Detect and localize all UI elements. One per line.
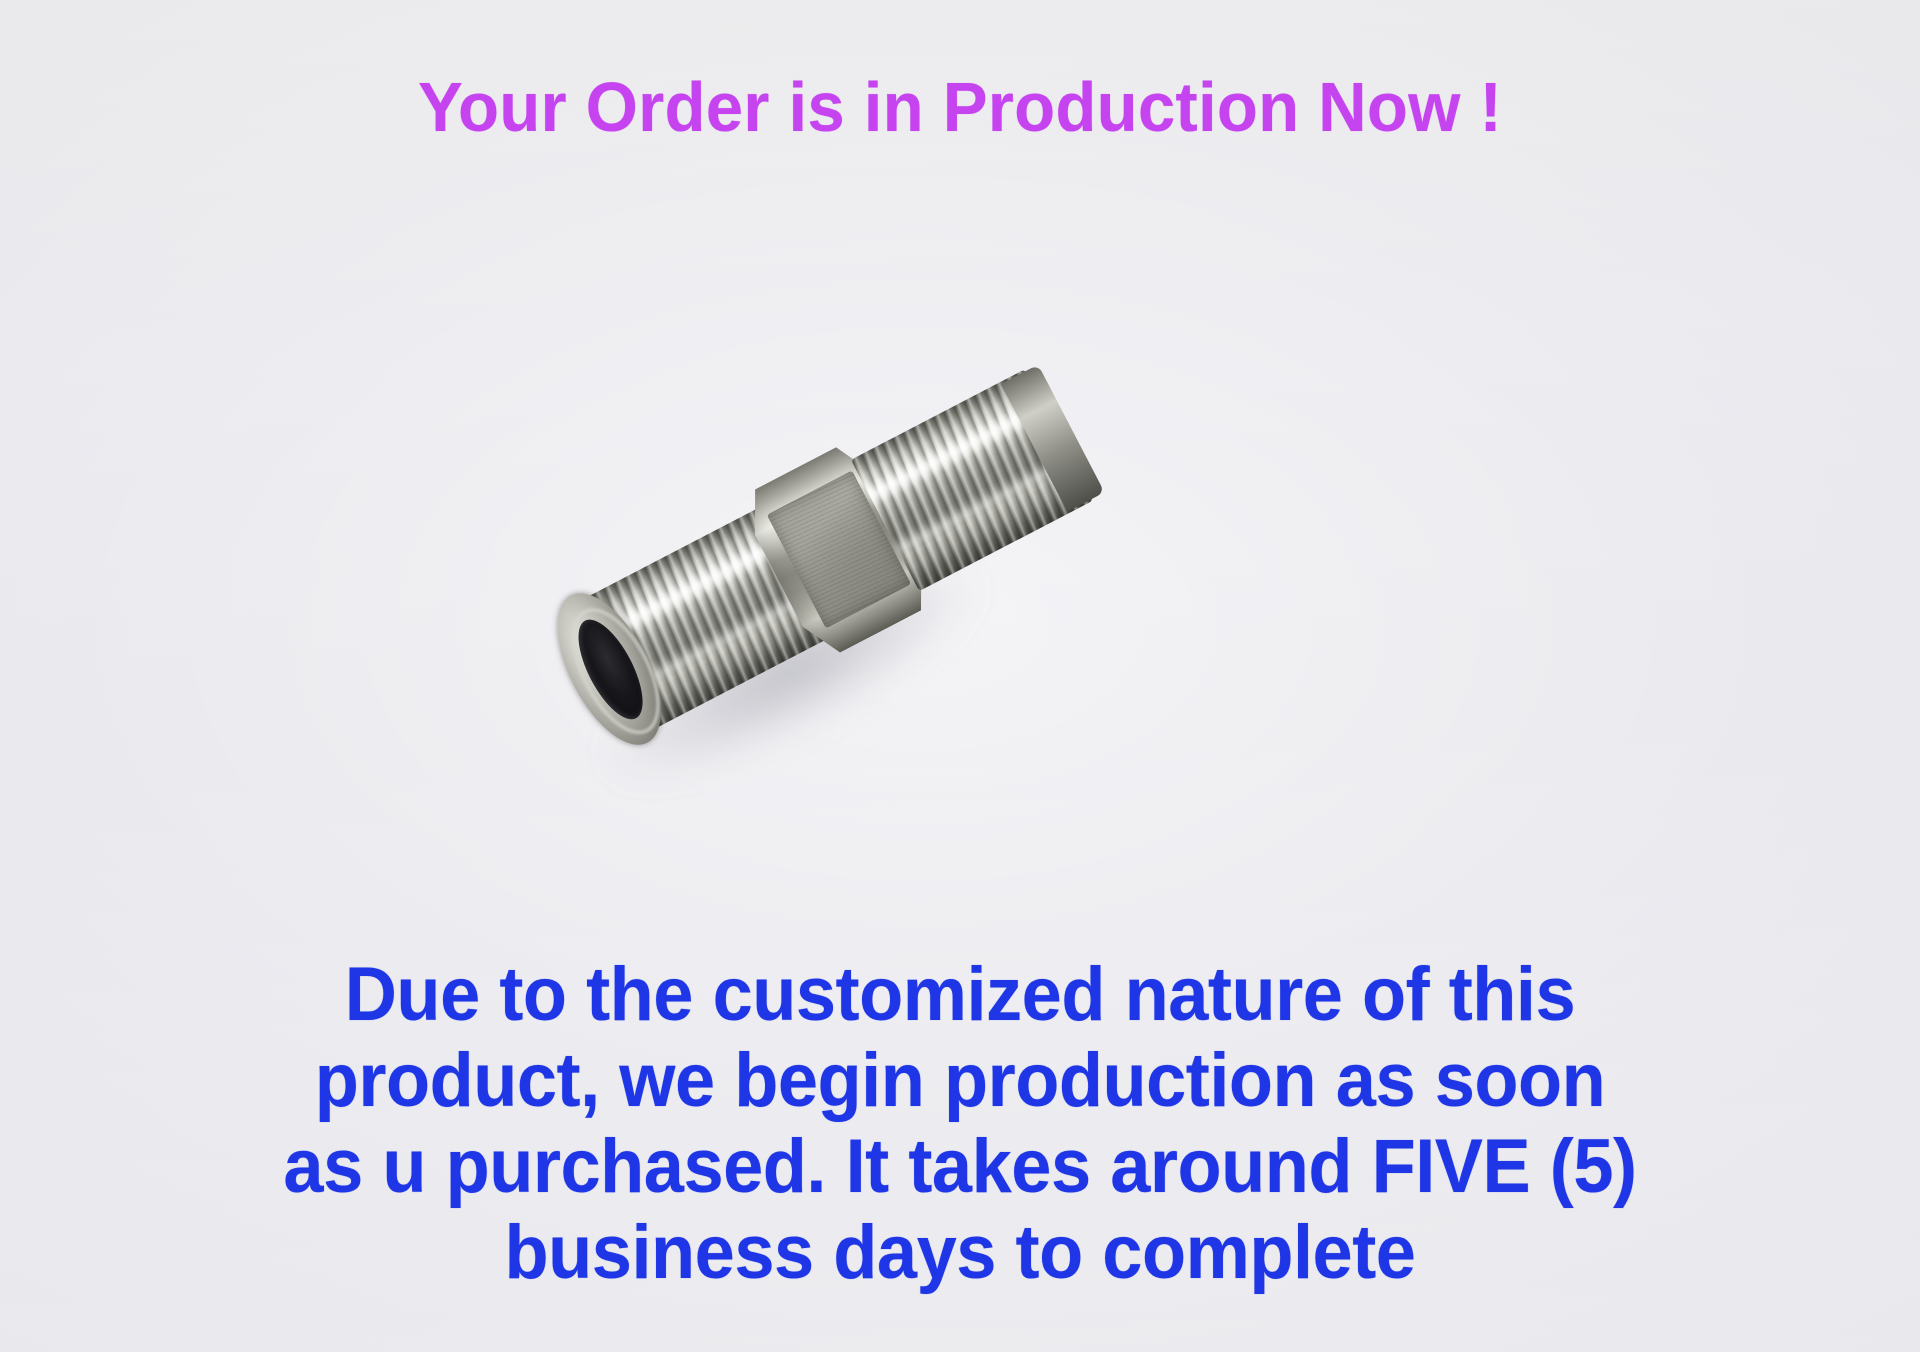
bore-rim	[554, 594, 678, 748]
hex-nipple-fitting	[503, 347, 1099, 788]
thread-grooves-right	[851, 369, 1093, 591]
contact-shadow	[516, 483, 1065, 862]
body-copy-block: Due to the customized nature of this pro…	[48, 952, 1872, 1296]
specular-band-right	[865, 396, 1050, 507]
fitting-body	[435, 234, 1167, 900]
body-copy-line-4: business days to complete	[48, 1210, 1872, 1296]
specular-band-left	[586, 532, 787, 652]
hex-face-machining-grain	[767, 471, 911, 629]
thread-highlights-left	[572, 506, 830, 736]
thread-grooves-left	[572, 506, 830, 736]
secondary-specular-right	[894, 452, 1075, 557]
thread-highlights-right	[851, 369, 1093, 591]
body-copy-line-3: as u purchased. It takes around FIVE (5)	[48, 1124, 1872, 1210]
end-face-ring	[536, 577, 682, 760]
left-threaded-barrel	[572, 506, 830, 736]
right-threaded-barrel	[851, 369, 1093, 591]
promo-banner: Your Order is in Production Now !	[0, 0, 1920, 1352]
body-copy-line-1: Due to the customized nature of this	[48, 952, 1872, 1038]
bore-opening	[566, 611, 656, 729]
hex-front-face	[767, 471, 911, 629]
headline-text: Your Order is in Production Now !	[38, 72, 1881, 142]
right-end-cap	[1001, 365, 1105, 512]
body-copy-line-2: product, we begin production as soon	[48, 1038, 1872, 1124]
hex-flats-section	[736, 437, 940, 662]
secondary-specular-left	[615, 589, 812, 702]
